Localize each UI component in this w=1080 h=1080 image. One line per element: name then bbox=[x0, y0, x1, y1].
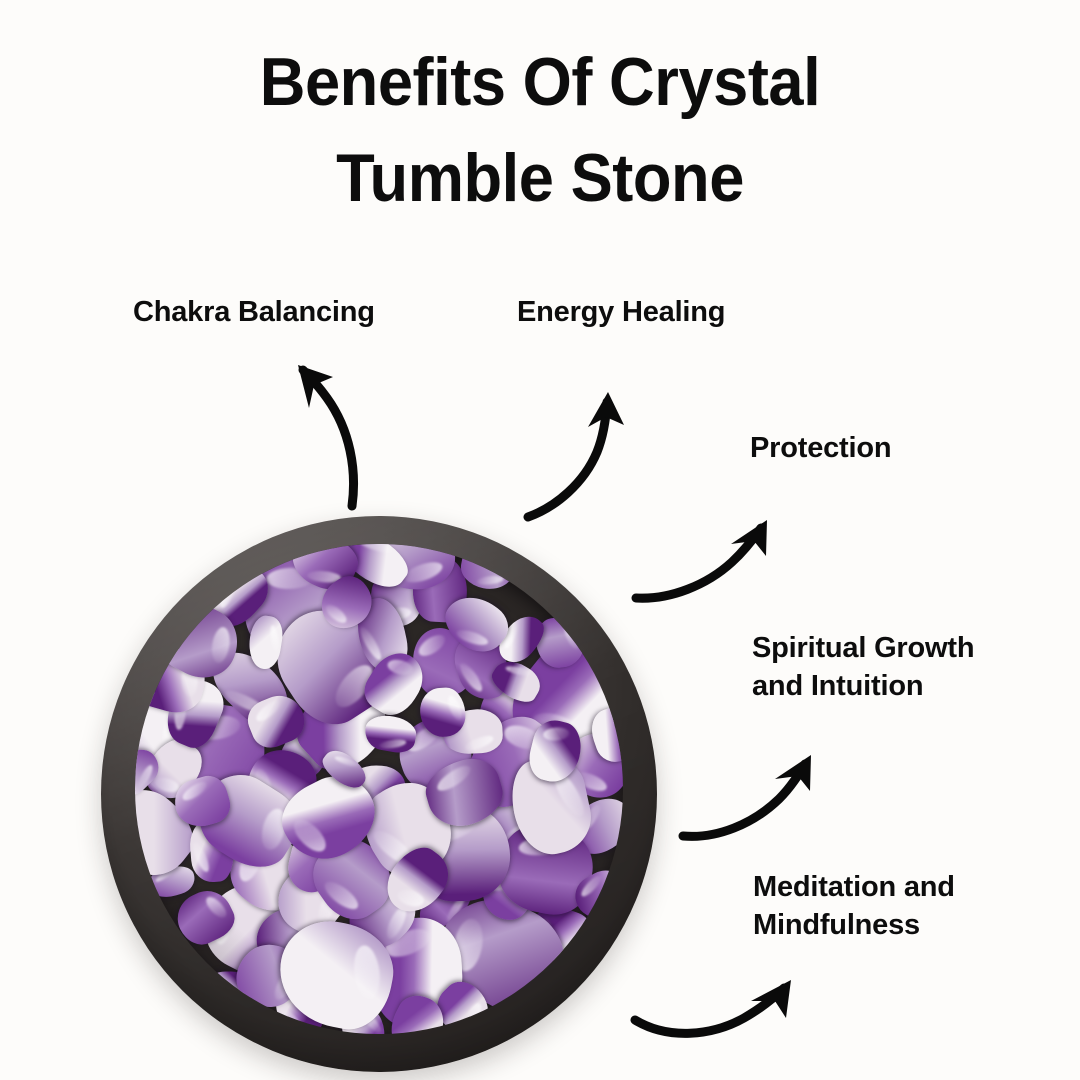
benefit-label-energy-healing: Energy Healing bbox=[517, 293, 725, 331]
bowl-vessel bbox=[101, 516, 657, 1072]
arrow-to-spiritual-growth-icon bbox=[683, 755, 811, 836]
benefit-label-meditation-mindfulness: Meditation and Mindfulness bbox=[753, 868, 955, 944]
benefit-label-protection: Protection bbox=[750, 429, 891, 467]
bowl-interior bbox=[135, 544, 622, 1034]
arrow-to-energy-healing-icon bbox=[528, 392, 624, 517]
benefit-label-chakra-balancing: Chakra Balancing bbox=[133, 293, 375, 331]
page-title: Benefits Of Crystal Tumble Stone bbox=[0, 34, 1080, 226]
amethyst-bowl-image bbox=[101, 516, 657, 1072]
arrow-to-chakra-balancing-icon bbox=[298, 365, 354, 506]
benefit-label-spiritual-growth: Spiritual Growth and Intuition bbox=[752, 629, 974, 705]
tumble-stone-pile bbox=[135, 544, 622, 1034]
infographic-canvas: Benefits Of Crystal Tumble Stone bbox=[0, 0, 1080, 1080]
title-line-2: Tumble Stone bbox=[38, 130, 1042, 226]
arrow-to-meditation-mindfulness-icon bbox=[635, 980, 791, 1033]
title-line-1: Benefits Of Crystal bbox=[38, 34, 1042, 130]
